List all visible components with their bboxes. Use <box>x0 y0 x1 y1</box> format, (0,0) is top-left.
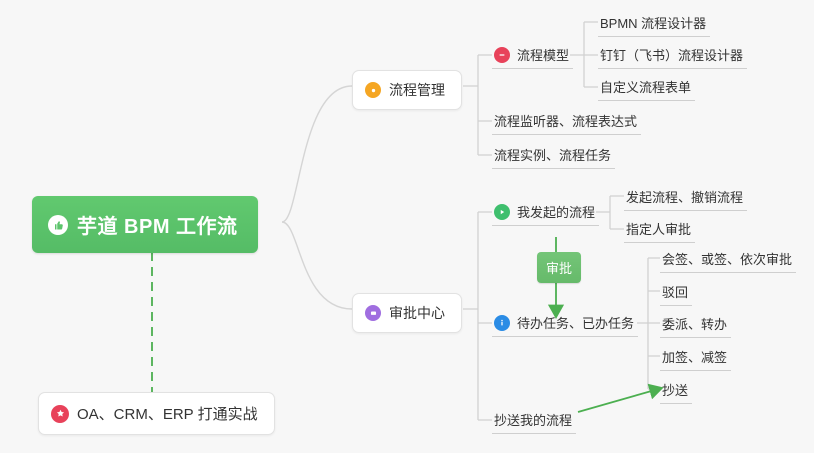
leaf-label: 自定义流程表单 <box>600 77 691 96</box>
leaf-node-cc[interactable]: 抄送 <box>660 377 692 404</box>
leaf-label: 待办任务、已办任务 <box>517 313 634 332</box>
branch-node-process-management[interactable]: 流程管理 <box>352 70 462 110</box>
leaf-node-process-model[interactable]: 流程模型 <box>492 42 573 69</box>
leaf-node-delegate-transfer[interactable]: 委派、转办 <box>660 311 731 338</box>
info-circle-icon <box>494 315 510 331</box>
leaf-label: 抄送 <box>662 380 688 399</box>
leaf-label: BPMN 流程设计器 <box>600 13 706 32</box>
leaf-label: 会签、或签、依次审批 <box>662 249 792 268</box>
leaf-node-start-cancel[interactable]: 发起流程、撤销流程 <box>624 184 747 211</box>
branch-label: 审批中心 <box>389 303 445 323</box>
leaf-label: 委派、转办 <box>662 314 727 333</box>
callout-label: 审批 <box>546 261 572 276</box>
minus-circle-icon <box>494 47 510 63</box>
root-node[interactable]: 芋道 BPM 工作流 <box>32 196 258 253</box>
leaf-label: 流程模型 <box>517 45 569 64</box>
leaf-node-listener-expression[interactable]: 流程监听器、流程表达式 <box>492 108 641 135</box>
chat-circle-icon <box>365 305 381 321</box>
leaf-label: 流程监听器、流程表达式 <box>494 111 637 130</box>
callout-integration-card[interactable]: OA、CRM、ERP 打通实战 <box>38 392 275 435</box>
leaf-label: 流程实例、流程任务 <box>494 145 611 164</box>
leaf-label: 抄送我的流程 <box>494 410 572 429</box>
mindmap-canvas: 芋道 BPM 工作流 流程管理 流程模型 BPMN 流程设计器 钉钉（飞书）流程… <box>0 0 814 453</box>
root-label: 芋道 BPM 工作流 <box>77 210 238 239</box>
leaf-label: 驳回 <box>662 282 688 301</box>
star-circle-icon <box>51 405 69 423</box>
leaf-node-countersign[interactable]: 会签、或签、依次审批 <box>660 246 796 273</box>
leaf-node-reject[interactable]: 驳回 <box>660 279 692 306</box>
leaf-node-instance-task[interactable]: 流程实例、流程任务 <box>492 142 615 169</box>
leaf-label: 我发起的流程 <box>517 202 595 221</box>
leaf-node-cc-to-me[interactable]: 抄送我的流程 <box>492 407 576 434</box>
thumbs-up-icon <box>48 215 68 235</box>
location-pin-icon <box>365 82 381 98</box>
leaf-label: 发起流程、撤销流程 <box>626 187 743 206</box>
leaf-node-dingtalk-designer[interactable]: 钉钉（飞书）流程设计器 <box>598 42 747 69</box>
branch-node-approval-center[interactable]: 审批中心 <box>352 293 462 333</box>
leaf-node-assign-approver[interactable]: 指定人审批 <box>624 216 695 243</box>
leaf-label: 指定人审批 <box>626 219 691 238</box>
leaf-label: 加签、减签 <box>662 347 727 366</box>
branch-label: 流程管理 <box>389 80 445 100</box>
callout-approval[interactable]: 审批 <box>537 252 581 283</box>
callout-label: OA、CRM、ERP 打通实战 <box>77 403 258 424</box>
leaf-node-bpmn-designer[interactable]: BPMN 流程设计器 <box>598 10 710 37</box>
leaf-node-custom-form[interactable]: 自定义流程表单 <box>598 74 695 101</box>
leaf-node-add-remove-sign[interactable]: 加签、减签 <box>660 344 731 371</box>
leaf-label: 钉钉（飞书）流程设计器 <box>600 45 743 64</box>
play-circle-icon <box>494 204 510 220</box>
leaf-node-todo-done-tasks[interactable]: 待办任务、已办任务 <box>492 310 638 337</box>
leaf-node-my-initiated[interactable]: 我发起的流程 <box>492 199 599 226</box>
